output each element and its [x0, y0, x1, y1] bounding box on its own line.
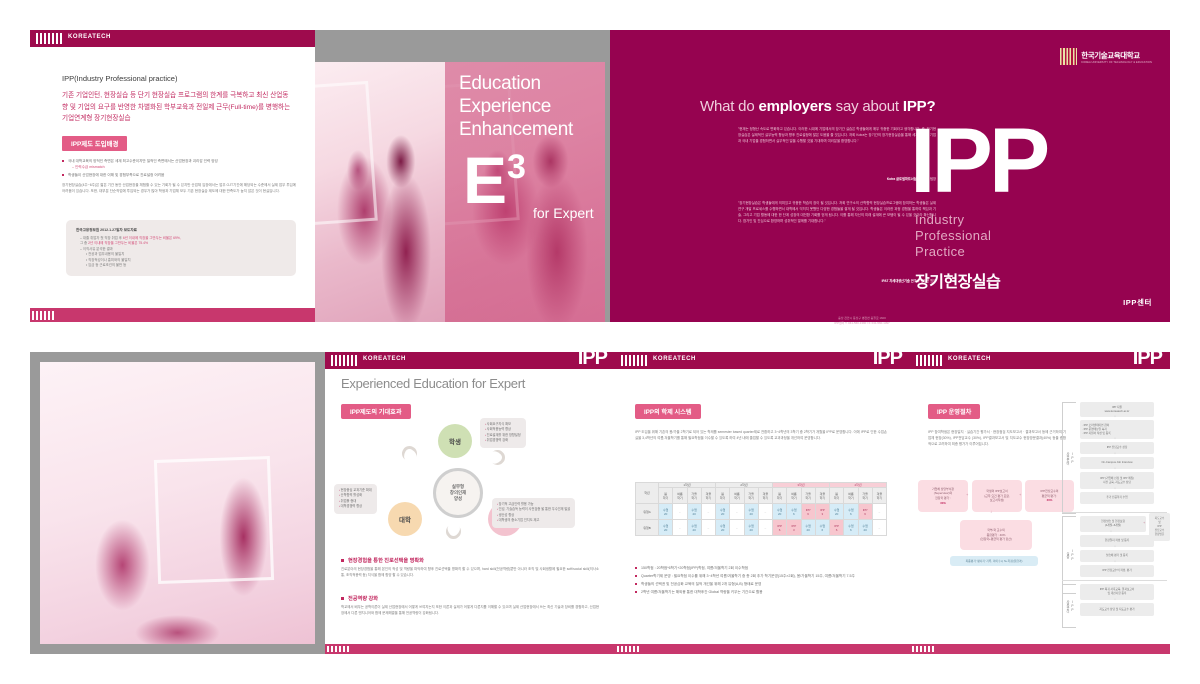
cell: 수업 20 — [687, 520, 701, 536]
question-pre: What do — [700, 98, 758, 115]
stripes-icon — [916, 355, 942, 366]
photo-classroom — [30, 352, 325, 654]
ipp-wordmark: IPP — [578, 348, 607, 368]
bottom-spread: KOREATECH IPP Experienced Education for … — [30, 352, 1170, 654]
badge-academic-system: IPP의 학제 시스템 — [635, 404, 701, 419]
callout-item: 취업경쟁력 강화 — [485, 438, 521, 443]
callout-item: 대학경쟁력 향상 — [339, 504, 372, 509]
list-item: 국내 대학교육의 양적인 측면은 세계 최고수준이지만 질적인 측면에서는 산업… — [62, 158, 296, 170]
logo-mark-icon — [1060, 48, 1077, 65]
logo-text: 한국기술교육대학교 KOREA UNIVERSITY OF TECHNOLOGY… — [1081, 50, 1152, 64]
term-head: 겨울 학기 — [872, 488, 886, 504]
cover-headline: Education Experience Enhancement — [459, 72, 573, 141]
cell: IPP 6 — [801, 504, 815, 520]
cell: 수업 20 — [659, 504, 673, 520]
academic-intro: IPP 도입을 위해 기존의 봄/가을 2학기로 되어 있는 학제를 semes… — [635, 430, 887, 442]
flow-box-report: 학생의 IPP보고서 (근무 요건 평가 포함, 보고서작성) — [972, 480, 1022, 512]
cell: – — [730, 504, 744, 520]
flow-percent: 30% — [1047, 498, 1053, 503]
process-steps-flow: IPP 사전준비 IPP 지원 www.koreatech.ac.kr ↓ · … — [1062, 400, 1167, 635]
cell: IPP 6 — [858, 504, 872, 520]
flow-box-final: 학부/과 교수의 종합평가 : 40% (현장학+평균적 평가 합산) — [960, 520, 1032, 550]
note-item: 2학년 여름/겨울학기는 해외봉 통한 대학후간 Global 역량을 키우는 … — [635, 589, 890, 595]
down-arrow-icon: ↓ — [1080, 529, 1142, 533]
callout-line: • 임금 등 근로조건의 불만 등 — [76, 263, 286, 268]
down-arrow-icon: ↓ — [1080, 414, 1150, 418]
table-row: 유형A 수업 20 – 수업 20 – 수업 20 – 수업 20 – 수업 2… — [636, 504, 887, 520]
flow-text: 학생의 IPP보고서 (근무 요건 평가 포함, 보고서작성) — [984, 489, 1009, 503]
flow-text: 학부/과 교수의 종합평가 : 40% (현장학+평균적 평가 합산) — [980, 528, 1012, 542]
table-row-terms: 봄 학기 여름 학기 가을 학기 겨울 학기 봄 학기 여름 학기 가을 학기 … — [636, 488, 887, 504]
ipp-center-label: IPP센터 — [1123, 297, 1152, 308]
headline-line: Experience — [459, 95, 573, 118]
brand-bar: KOREATECH IPP — [325, 352, 615, 369]
cover-e3-panel: Education Experience Enhancement E 3 for… — [445, 30, 605, 322]
koreatech-wordmark: KOREATECH — [948, 356, 991, 362]
plus-icon: + — [1143, 520, 1145, 525]
process-intro: IPP 참여학생은 현장일지 · 실습기간 평가서 · 현장점검 지도보고서 ·… — [928, 430, 1066, 447]
badge-process: IPP 운영절차 — [928, 404, 980, 419]
stripes-icon — [912, 646, 934, 652]
cell: – — [758, 520, 772, 536]
bracket-label: IPP 사전준비 — [1065, 452, 1075, 465]
panel-academic-system: KOREATECH IPP IPP의 학제 시스템 IPP 도입을 위해 기존의… — [615, 352, 910, 654]
cell: – — [673, 504, 687, 520]
callout-box: 한국고용정보원 2012.1.27일자 보도자료 – 대졸 취업자 첫 직장 취… — [66, 220, 296, 276]
cell: 수업 6 — [844, 520, 858, 536]
line-text: 전공과 업무내용의 불일치 — [88, 252, 124, 256]
callout-company: 장기적 고급인력 활용 가능 인성, 기술습득 능력이 사전검증 돨 통한 우수… — [492, 498, 575, 528]
term-head: 겨울 학기 — [815, 488, 829, 504]
bracket-label: IPP 실습 — [1065, 549, 1075, 561]
down-arrow-icon: ↓ — [1080, 544, 1150, 548]
question-mid: say about — [832, 98, 903, 115]
cell: IPP 3 — [787, 520, 801, 536]
cover-title-ipp: IPP — [910, 120, 1046, 202]
cell: 수업 20 — [659, 520, 673, 536]
subsection-title: 전공역량 강화 — [341, 595, 599, 602]
bracket-practice: IPP 실습 — [1062, 516, 1076, 594]
photo-image — [315, 30, 445, 322]
cover-question: What do employers say about IPP? — [700, 98, 935, 115]
ipp-wordmark: IPP — [1133, 348, 1162, 368]
footer-bar — [910, 644, 1170, 654]
step: 지도교수 상담 및 지도교수 평가 — [1080, 603, 1154, 616]
cover-main-panel: 한국기술교육대학교 KOREA UNIVERSITY OF TECHNOLOGY… — [610, 30, 1170, 322]
line-mark: – — [80, 247, 82, 251]
academic-notes: 150학점 : 20학점*6학기+20학점(IPP)학점, 여름/겨울학기 2회… — [635, 565, 890, 597]
cell: IPP 6 — [773, 520, 787, 536]
arrow-arc-icon — [443, 521, 464, 542]
photo-people-meeting — [315, 30, 445, 322]
note-item: 150학점 : 20학점*6학기+20학점(IPP)학점, 여름/겨울학기 2회… — [635, 565, 890, 571]
brochure-canvas: KOREATECH IPP(Industry Professional prac… — [0, 0, 1200, 684]
cover-subtitle: Industry Professional Practice — [915, 212, 991, 260]
inside-left-page: KOREATECH IPP(Industry Professional prac… — [30, 30, 315, 322]
subtitle-line: Industry — [915, 212, 991, 228]
cell: – — [872, 504, 886, 520]
cell: 수업 20 — [744, 520, 758, 536]
term-head: 봄 학기 — [830, 488, 844, 504]
cell: IPP 3 — [815, 504, 829, 520]
gray-gutter — [315, 30, 605, 62]
stripes-icon — [36, 33, 62, 44]
line-highlight: 6년 이내에 직장을 그만두는 비율은 69%, — [123, 236, 181, 240]
wheel-node-student: 학생 — [438, 424, 472, 458]
koreatech-wordmark: KOREATECH — [653, 356, 696, 362]
down-arrow-icon: ↓ — [1080, 486, 1150, 490]
cover-korean-title: 장기현장실습 — [915, 268, 1000, 292]
wheel-center-label: 실무형 창의인재 양성 — [433, 468, 483, 518]
footer-bar — [30, 308, 315, 322]
line-text: 임금 등 근로조건의 불만 등 — [88, 263, 126, 267]
line-text: 그 중 — [80, 241, 88, 245]
stripes-icon — [32, 311, 56, 320]
section-heading: Experienced Education for Expert — [341, 376, 525, 391]
quote-text: "장기현장실습은 학생들에게 의미있고 귀중한 학습의 장이 될 것입니다. 저… — [738, 200, 936, 224]
subsection-body: 진로분야의 현장경험을 통해 본인의 적성 및 역량을 파악하여 향후 진로선택… — [341, 567, 599, 579]
cell: 수업 20 — [773, 504, 787, 520]
term-head: 가을 학기 — [687, 488, 701, 504]
term-head: 여름 학기 — [844, 488, 858, 504]
table-row: 유형B 수업 20 – 수업 20 – 수업 20 – 수업 20 – IPP … — [636, 520, 887, 536]
cell: 수업 20 — [801, 520, 815, 536]
cell: – — [730, 520, 744, 536]
footer-bar — [325, 644, 615, 654]
headline-line: Education — [459, 72, 573, 95]
stakeholder-wheel-diagram: 학생 대학 기업 실무형 창의인재 양성 사회요구지식 확보 사회적응능력 향상… — [380, 424, 560, 544]
quote-attribution: IPAT 차세대생산기술 연구소 생명연 원장 — [738, 278, 936, 283]
cell: – — [701, 520, 715, 536]
cell: IPP 6 — [830, 520, 844, 536]
flow-percent: 30% — [940, 501, 946, 506]
lede-paragraph: 기존 기업인턴, 현장실습 등 단기 현장실습 프로그램의 한계를 극복하고 최… — [62, 90, 294, 125]
bullet-text: 국내 대학교육의 양적인 측면은 세계 최고수준이지만 질적인 측면에서는 산업… — [68, 159, 218, 163]
stripes-icon — [617, 646, 639, 652]
step: IPP 전담교수의 작성, 평가 — [1080, 565, 1154, 577]
arrow-arc-icon — [487, 447, 508, 468]
photo-image — [40, 362, 315, 644]
term-head: 봄 학기 — [773, 488, 787, 504]
flow-box-supervisor: 기업체 담당부서장 (Supervisor)의 현장학 평가 : 30% — [918, 480, 968, 512]
semester-table: 학년 1학년 2학년 3학년 4학년 봄 학기 여름 학기 가을 학기 겨울 학… — [635, 482, 887, 536]
callout-university: 현장중심 교과기준 확대 산학협력 활성화 취업률 증대 대학경쟁력 향상 — [334, 484, 377, 514]
term-head: 가을 학기 — [858, 488, 872, 504]
subtitle-line: Practice — [915, 244, 991, 260]
down-arrow-icon: ↓ — [990, 509, 992, 514]
line-mark: • — [86, 263, 87, 267]
note-item: 학생들의 선택권 및 전공심화 교육의 질적 개선을 위해 2개 유형(A,B)… — [635, 581, 890, 587]
question-bold: employers — [758, 98, 831, 115]
stripes-icon — [331, 355, 357, 366]
list-item: 학생들이 산업현장에 대한 이해 및 경험부족으로 진로설정 어려움 — [62, 172, 296, 178]
line-highlight: 2년 이내에 직장을 그만두는 비율은 75.4% — [88, 241, 148, 245]
callout-student: 사회요구지식 확보 사회적응능력 향상 진로설계를 위한 방향설정 취업경쟁력 … — [480, 418, 526, 448]
subsection-body: 학교에서 배우는 공학이론이 실제 산업현장에서 어떻게 쓰여지는지 또한 이론… — [341, 605, 599, 617]
cell: – — [872, 520, 886, 536]
e3-mark: E — [463, 150, 504, 210]
quote-attribution: Kotra 글로벌파트너십팀 전략훈 팀장 — [738, 176, 936, 181]
body-paragraph: 장기현장실습(4주~6주)은 짧은 기간 동안 산업현장을 체험할 수 있는 기… — [62, 182, 296, 194]
divider — [1062, 580, 1167, 581]
term-head: 가을 학기 — [801, 488, 815, 504]
stripes-icon — [327, 646, 349, 652]
address-block: 충남 천안시 동남구 병천면 충절로 1600 IPP센터 T. 041-560… — [772, 316, 952, 326]
quote-text: "현재는 정형난 속도로 변화하고 있습니다. 이러한 시대에 기업에서의 장기… — [738, 126, 936, 144]
plus-icon: + — [1019, 492, 1021, 497]
down-arrow-icon: ↓ — [1080, 559, 1150, 563]
subtitle-line: Professional — [915, 228, 991, 244]
brand-bar-top-left: KOREATECH — [30, 30, 315, 47]
cell: – — [673, 520, 687, 536]
note-item: Quarter학기제 운영 : 필요학점 이수를 위해 3~4학년 여름/겨울학… — [635, 573, 890, 579]
line-text: 대졸 취업자 첫 직장 취업 후 — [83, 236, 123, 240]
stripes-icon — [621, 355, 647, 366]
subsection-2: 전공역량 강화 학교에서 배우는 공학이론이 실제 산업현장에서 어떻게 쓰여지… — [341, 595, 599, 617]
line-mark: • — [86, 258, 87, 262]
down-arrow-icon: ↓ — [1080, 466, 1150, 470]
bullet-list: 국내 대학교육의 양적인 측면은 세계 최고수준이지만 질적인 측면에서는 산업… — [62, 158, 296, 180]
bracket-post: IPP 사후관리 — [1062, 584, 1076, 628]
cell: – — [758, 504, 772, 520]
quote-org: IPAT 차세대생산기술 연구소 — [882, 279, 920, 283]
line-text: 이직사유 분석한 결과 — [83, 247, 113, 251]
page-title: IPP(Industry Professional practice) — [62, 74, 177, 83]
term-head: 여름 학기 — [787, 488, 801, 504]
cell: 수업 6 — [815, 520, 829, 536]
brand-bar: KOREATECH IPP — [910, 352, 1170, 369]
footer-bar — [615, 644, 910, 654]
university-logo: 한국기술교육대학교 KOREA UNIVERSITY OF TECHNOLOGY… — [1060, 48, 1152, 65]
down-arrow-icon: ↓ — [1080, 597, 1150, 601]
ipp-wordmark: IPP — [873, 348, 902, 368]
bracket-pre: IPP 사전준비 — [1062, 402, 1076, 514]
e3-tagline: for Expert — [533, 205, 594, 221]
brand-bar: KOREATECH IPP — [615, 352, 910, 369]
evaluation-flow: 기업체 담당부서장 (Supervisor)의 현장학 평가 : 30% + 학… — [918, 480, 1068, 576]
flow-text: IPP전담교수의 평균적 평가 : — [1041, 489, 1059, 498]
down-arrow-icon: ↓ — [1080, 436, 1150, 440]
term-head: 여름 학기 — [730, 488, 744, 504]
cell: 수업 20 — [830, 504, 844, 520]
plus-icon: + — [966, 492, 968, 497]
line-mark: • — [86, 252, 87, 256]
row-label: 유형A — [636, 504, 659, 520]
panel-process: KOREATECH IPP IPP 운영절차 IPP 참여학생은 현장일지 · … — [910, 352, 1170, 654]
logo-korean: 한국기술교육대학교 — [1081, 50, 1152, 61]
term-head: 겨울 학기 — [758, 488, 772, 504]
koreatech-wordmark: KOREATECH — [363, 356, 406, 362]
wheel-node-university: 대학 — [388, 502, 422, 536]
bracket-label: IPP 사후관리 — [1065, 600, 1075, 613]
cell: 수업 20 — [716, 520, 730, 536]
down-arrow-icon: ↓ — [1080, 451, 1150, 455]
cell: 수업 20 — [716, 504, 730, 520]
cell: – — [701, 504, 715, 520]
flow-text: 기업체 담당부서장 (Supervisor)의 현장학 평가 : — [932, 487, 954, 501]
arrow-arc-icon — [399, 443, 419, 463]
koreatech-wordmark: KOREATECH — [68, 34, 111, 40]
step: 추가 전공학기 수업 — [1080, 492, 1154, 504]
cell: 수업 20 — [858, 520, 872, 536]
term-head: 가을 학기 — [744, 488, 758, 504]
term-head: 겨울 학기 — [701, 488, 715, 504]
logo-english: KOREA UNIVERSITY OF TECHNOLOGY & EDUCATI… — [1081, 61, 1152, 64]
cell: 수업 20 — [687, 504, 701, 520]
col-head-year: 학년 — [636, 483, 659, 504]
badge-ipp-background: IPP제도 도입배경 — [62, 136, 127, 151]
term-head: 봄 학기 — [716, 488, 730, 504]
panel-expected-effects: KOREATECH IPP Experienced Education for … — [325, 352, 615, 654]
row-label: 유형B — [636, 520, 659, 536]
bullet-text: 학생들이 산업현장에 대한 이해 및 경험부족으로 진로설정 어려움 — [68, 173, 164, 177]
term-head: 여름 학기 — [673, 488, 687, 504]
cell: 수업 6 — [844, 504, 858, 520]
e3-superscript: 3 — [507, 148, 526, 187]
subsection-1: 현장경험을 통한 진로선택을 명확화 진로분야의 현장경험을 통해 본인의 적성… — [341, 557, 599, 579]
callout-item: 대학생의 중소기업 인지도 제고 — [497, 518, 570, 523]
flow-note: 최종평가 '평사기' 기록, 미이수시 N+학점(불합격) — [950, 556, 1038, 566]
cell: 수업 6 — [787, 504, 801, 520]
subsection-title: 현장경험을 통한 진로선택을 명확화 — [341, 557, 599, 564]
term-head: 봄 학기 — [659, 488, 673, 504]
callout-title: 한국고용정보원 2012.1.27일자 보도자료 — [76, 228, 286, 233]
headline-line: Enhancement — [459, 118, 573, 141]
cell: 수업 20 — [744, 504, 758, 520]
bullet-subtext: – 인력수급 mismatch — [68, 164, 296, 170]
top-spread: KOREATECH IPP(Industry Professional prac… — [30, 30, 1170, 322]
line-mark: – — [80, 236, 82, 240]
line-text: 직장적성이나 흥미와의 불일치 — [88, 258, 130, 262]
badge-expected-effects: IPP제도의 기대효과 — [341, 404, 411, 419]
